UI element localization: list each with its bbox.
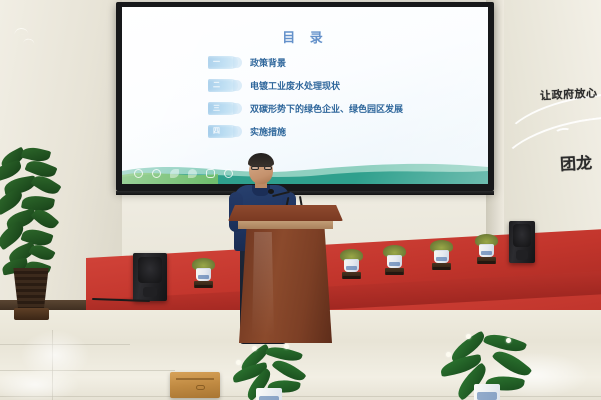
toc-number-badge: 二 [208, 79, 238, 92]
leaf-icon [170, 169, 179, 178]
toc-number-badge: 四 [208, 125, 238, 138]
presenter-hair [248, 153, 274, 167]
toc-item-label: 政策背景 [250, 56, 286, 69]
wall-slogan-primary: 让政府放心 [540, 85, 598, 104]
podium-top [228, 205, 343, 221]
stage-plant [430, 240, 453, 270]
led-display-panel[interactable]: 目 录 一 政策背景 二 电镀工业废水处理现状 三 [116, 2, 494, 191]
toc-number-label: 一 [213, 57, 220, 67]
toc-item-label: 双碳形势下的绿色企业、绿色园区发展 [250, 102, 403, 115]
stage-plant-vase [479, 244, 494, 257]
stage-plant-vase [344, 259, 359, 272]
circle-icon [152, 169, 161, 178]
podium-accent-band [238, 220, 333, 229]
foreground-plant-pot [256, 388, 282, 400]
floor-reflection [0, 368, 80, 400]
wooden-box [170, 372, 220, 398]
slide-title: 目 录 [122, 27, 488, 46]
loudspeaker-right [509, 221, 535, 263]
foreground-plant-right [440, 334, 540, 400]
presentation-slide: 目 录 一 政策背景 二 电镀工业废水处理现状 三 [122, 7, 488, 184]
wooden-box-handle [196, 385, 205, 390]
loudspeaker-left [133, 253, 167, 301]
globe-icon [224, 169, 233, 178]
floor-plant-foliage [0, 148, 72, 278]
slide-footer-icons [134, 169, 233, 178]
microphone-icon [268, 189, 274, 194]
conference-room-photo: 让政府放心 团龙 目 录 一 政策背景 二 电镀工业废水处理现状 [0, 0, 601, 400]
toc-item-4: 四 实施措施 [208, 120, 488, 142]
podium-highlight [252, 232, 274, 337]
toc-item-label: 实施措施 [250, 125, 286, 138]
recycle-icon [206, 169, 215, 178]
glasses-icon [251, 166, 272, 170]
stage-plant-stand [385, 268, 404, 275]
stage-plant-stand [432, 263, 451, 270]
wall-slogan-secondary: 团龙 [559, 149, 592, 175]
stage-plant-stand [342, 272, 361, 279]
foreground-plant-left [232, 344, 310, 400]
toc-item-3: 三 双碳形势下的绿色企业、绿色园区发展 [208, 97, 488, 119]
floor-plant-stand [14, 308, 49, 320]
toc-item-2: 二 电镀工业废水处理现状 [208, 74, 488, 96]
toc-item-1: 一 政策背景 [208, 51, 488, 73]
drop-icon [188, 169, 197, 178]
stage-plant-stand [194, 281, 213, 288]
toc-item-label: 电镀工业废水处理现状 [250, 79, 340, 92]
stage-plant [340, 249, 363, 279]
stage-plant [383, 245, 406, 275]
toc-number-badge: 一 [208, 56, 238, 69]
slide-toc-list: 一 政策背景 二 电镀工业废水处理现状 三 双碳形势下的绿色企业、绿色园区发展 [208, 51, 488, 143]
toc-number-badge: 三 [208, 102, 238, 115]
stage-plant-vase [387, 255, 402, 268]
foreground-plant-pot [474, 384, 500, 400]
toc-number-label: 四 [213, 126, 220, 136]
stage-plant [192, 258, 215, 288]
stage-plant-stand [477, 257, 496, 264]
circle-icon [134, 169, 143, 178]
toc-number-label: 二 [213, 80, 220, 90]
stage-plant-vase [434, 250, 449, 263]
stage-plant-vase [196, 268, 211, 281]
toc-number-label: 三 [213, 103, 220, 113]
stage-plant [475, 234, 498, 264]
